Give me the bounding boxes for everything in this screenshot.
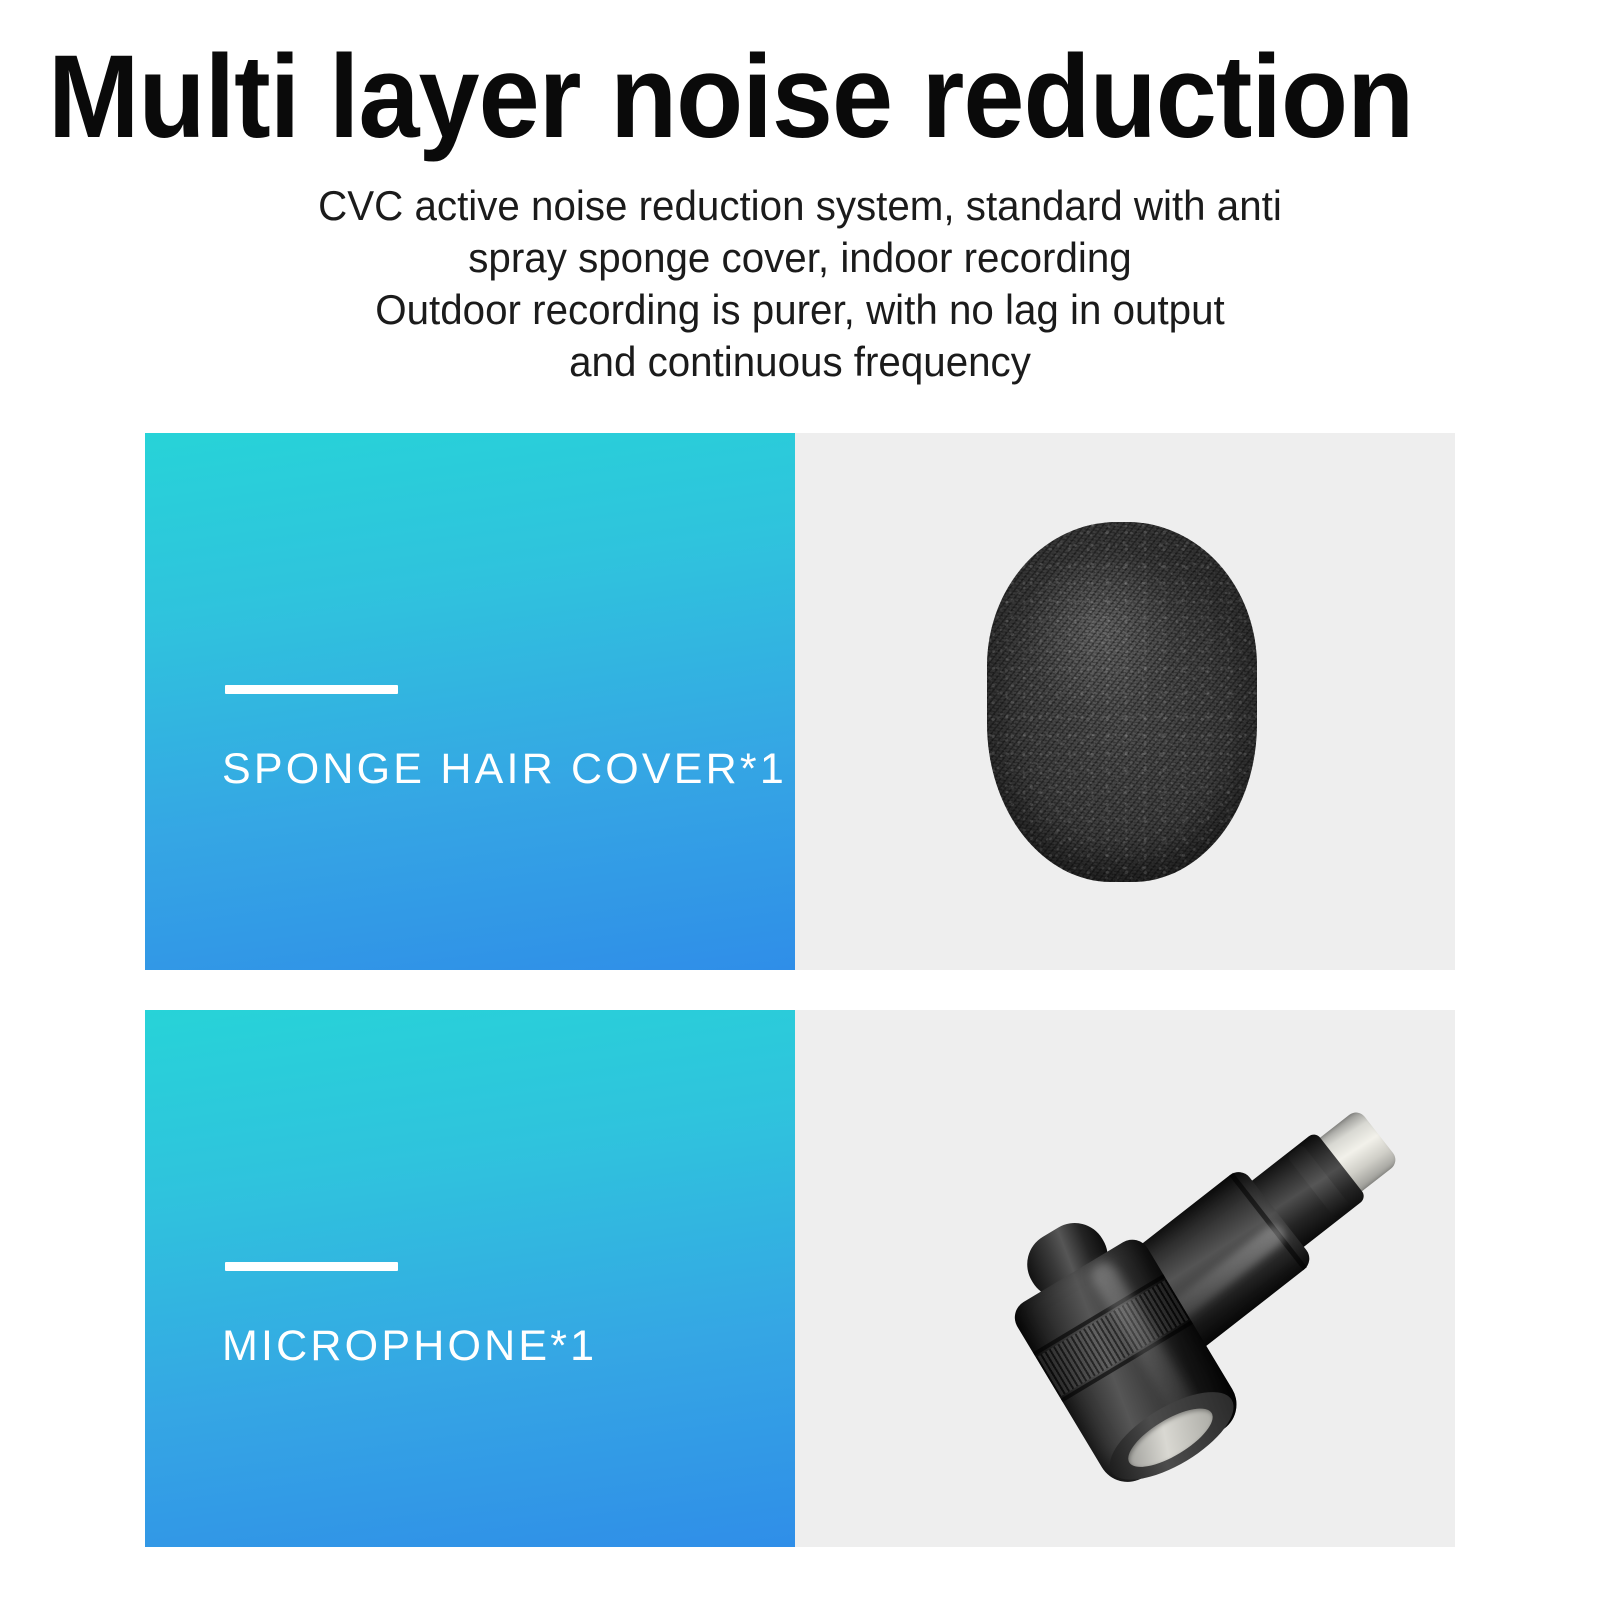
subtitle-block: CVC active noise reduction system, stand… bbox=[0, 180, 1600, 388]
card-photo-panel bbox=[795, 1010, 1455, 1547]
label-rule-divider bbox=[225, 1262, 398, 1271]
subtitle-line-3: Outdoor recording is purer, with no lag … bbox=[32, 284, 1568, 336]
subtitle-line-1: CVC active noise reduction system, stand… bbox=[32, 180, 1568, 232]
subtitle-line-2: spray sponge cover, indoor recording bbox=[32, 232, 1568, 284]
card-gradient-panel: SPONGE HAIR COVER*1 bbox=[145, 433, 795, 970]
card-label-microphone: MICROPHONE*1 bbox=[222, 1322, 597, 1371]
page-title: Multi layer noise reduction bbox=[48, 38, 1462, 156]
label-rule-divider bbox=[225, 685, 398, 694]
usb-c-microphone-image bbox=[915, 1029, 1335, 1529]
page-header: Multi layer noise reduction CVC active n… bbox=[0, 0, 1600, 400]
card-gradient-panel: MICROPHONE*1 bbox=[145, 1010, 795, 1547]
product-card-microphone: MICROPHONE*1 bbox=[145, 1010, 1455, 1547]
sponge-foam-pores bbox=[987, 522, 1257, 882]
product-card-sponge-hair-cover: SPONGE HAIR COVER*1 bbox=[145, 433, 1455, 970]
subtitle-line-4: and continuous frequency bbox=[32, 336, 1568, 388]
card-label-sponge-hair-cover: SPONGE HAIR COVER*1 bbox=[222, 745, 787, 794]
product-cards: SPONGE HAIR COVER*1 MICROPHONE*1 bbox=[145, 433, 1455, 1547]
card-photo-panel bbox=[795, 433, 1455, 970]
sponge-windscreen-image bbox=[987, 522, 1257, 882]
